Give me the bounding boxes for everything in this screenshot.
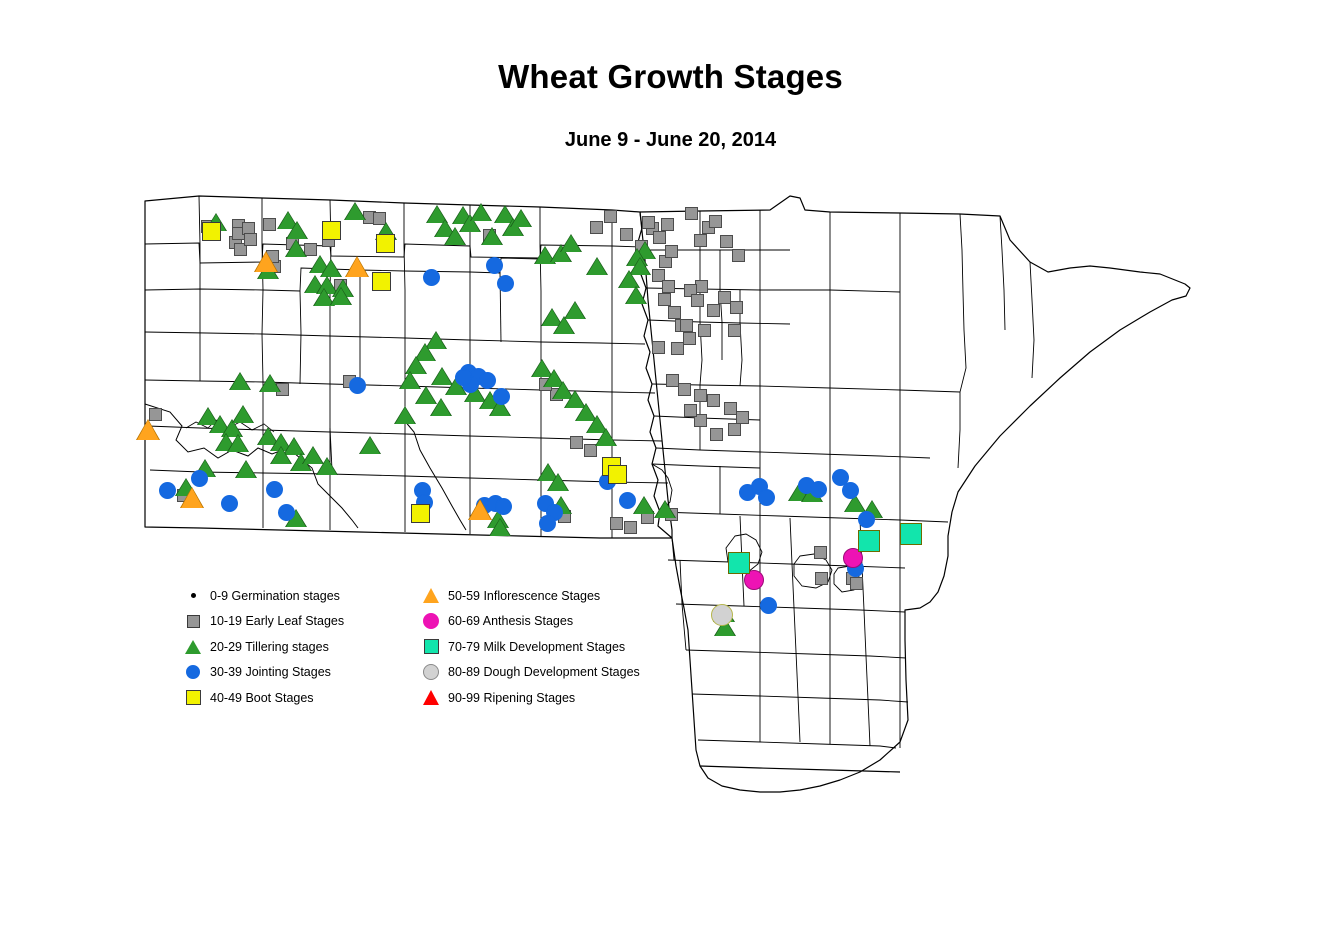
map-marker-early_leaf	[694, 389, 707, 402]
legend-item-label: 10-19 Early Leaf Stages	[210, 614, 344, 628]
map-marker-tillering	[345, 203, 365, 220]
map-marker-early_leaf	[624, 521, 637, 534]
map-marker-early_leaf	[709, 215, 722, 228]
map-marker-tillering	[490, 519, 510, 536]
map-marker-tillering	[482, 228, 502, 245]
map-marker-jointing	[486, 257, 503, 274]
map-marker-jointing	[497, 275, 514, 292]
map-marker-tillering	[565, 302, 585, 319]
map-marker-tillering	[587, 258, 607, 275]
map-marker-early_leaf	[691, 294, 704, 307]
map-marker-milk	[728, 552, 750, 574]
legend-item-label: 40-49 Boot Stages	[210, 691, 314, 705]
map-marker-early_leaf	[684, 404, 697, 417]
map-marker-early_leaf	[570, 436, 583, 449]
map-marker-jointing	[221, 495, 238, 512]
map-marker-jointing	[758, 489, 775, 506]
map-marker-early_leaf	[662, 280, 675, 293]
map-marker-jointing	[278, 504, 295, 521]
map-marker-jointing	[858, 511, 875, 528]
legend-item[interactable]: 40-49 Boot Stages	[178, 685, 344, 711]
map-marker-early_leaf	[620, 228, 633, 241]
legend-item[interactable]: 20-29 Tillering stages	[178, 634, 344, 660]
map-marker-tillering	[331, 288, 351, 305]
map-marker-tillering	[260, 375, 280, 392]
map-marker-jointing	[455, 369, 472, 386]
map-marker-tillering	[471, 204, 491, 221]
triangle-marker-red-icon	[416, 687, 446, 709]
map-marker-tillering	[228, 435, 248, 452]
map-marker-tillering	[548, 474, 568, 491]
map-marker-early_leaf	[707, 304, 720, 317]
map-marker-early_leaf	[680, 319, 693, 332]
map-marker-jointing	[760, 597, 777, 614]
map-marker-tillering	[236, 461, 256, 478]
dot-marker-black-icon	[178, 585, 208, 607]
legend-item[interactable]: 0-9 Germination stages	[178, 583, 344, 609]
map-marker-jointing	[191, 470, 208, 487]
map-marker-early_leaf	[732, 249, 745, 262]
wheat-growth-stages-map-page: Wheat Growth Stages June 9 - June 20, 20…	[0, 0, 1341, 926]
map-marker-inflorescence	[137, 420, 159, 440]
map-marker-jointing	[619, 492, 636, 509]
map-marker-early_leaf	[590, 221, 603, 234]
map-marker-tillering	[561, 235, 581, 252]
map-marker-tillering	[230, 373, 250, 390]
map-marker-tillering	[626, 287, 646, 304]
map-marker-inflorescence	[346, 257, 368, 277]
map-marker-early_leaf	[244, 233, 257, 246]
map-marker-tillering	[360, 437, 380, 454]
map-marker-jointing	[842, 482, 859, 499]
map-marker-tillering	[395, 407, 415, 424]
map-marker-milk	[858, 530, 880, 552]
map-marker-inflorescence	[469, 500, 491, 520]
map-marker-jointing	[266, 481, 283, 498]
map-marker-early_leaf	[658, 293, 671, 306]
legend-item[interactable]: 60-69 Anthesis Stages	[416, 609, 640, 635]
circle-marker-magenta-icon	[416, 610, 446, 632]
map-marker-boot	[202, 222, 221, 241]
map-marker-jointing	[495, 498, 512, 515]
map-marker-early_leaf	[694, 234, 707, 247]
map-marker-early_leaf	[604, 210, 617, 223]
map-marker-early_leaf	[652, 341, 665, 354]
map-marker-boot	[376, 234, 395, 253]
legend-item[interactable]: 50-59 Inflorescence Stages	[416, 583, 640, 609]
map-marker-early_leaf	[678, 383, 691, 396]
map-marker-jointing	[493, 388, 510, 405]
legend-item[interactable]: 90-99 Ripening Stages	[416, 685, 640, 711]
map-marker-early_leaf	[665, 245, 678, 258]
square-marker-teal-icon	[416, 636, 446, 658]
map-marker-early_leaf	[683, 332, 696, 345]
map-marker-early_leaf	[815, 572, 828, 585]
map-marker-early_leaf	[710, 428, 723, 441]
legend-item-label: 90-99 Ripening Stages	[448, 691, 575, 705]
map-marker-tillering	[431, 399, 451, 416]
legend-column-right: 50-59 Inflorescence Stages 60-69 Anthesi…	[416, 583, 640, 711]
legend-item-label: 50-59 Inflorescence Stages	[448, 589, 600, 603]
map-marker-early_leaf	[668, 306, 681, 319]
map-marker-tillering	[596, 429, 616, 446]
map-marker-jointing	[479, 372, 496, 389]
square-marker-yellow-icon	[178, 687, 208, 709]
map-marker-early_leaf	[263, 218, 276, 231]
legend-item-label: 0-9 Germination stages	[210, 589, 340, 603]
circle-marker-lightgray-icon	[416, 661, 446, 683]
map-marker-early_leaf	[730, 301, 743, 314]
legend-item[interactable]: 10-19 Early Leaf Stages	[178, 609, 344, 635]
legend: 0-9 Germination stages 10-19 Early Leaf …	[178, 583, 648, 711]
map-marker-tillering	[233, 406, 253, 423]
map-marker-tillering	[286, 240, 306, 257]
map-marker-tillering	[655, 501, 675, 518]
square-marker-gray-icon	[178, 610, 208, 632]
legend-item-label: 60-69 Anthesis Stages	[448, 614, 573, 628]
circle-marker-blue-icon	[178, 661, 208, 683]
map-canvas[interactable]	[0, 0, 1341, 926]
triangle-marker-orange-icon	[416, 585, 446, 607]
legend-column-left: 0-9 Germination stages 10-19 Early Leaf …	[178, 583, 344, 711]
map-marker-tillering	[317, 458, 337, 475]
legend-item[interactable]: 30-39 Jointing Stages	[178, 660, 344, 686]
map-marker-tillering	[287, 222, 307, 239]
legend-item[interactable]: 70-79 Milk Development Stages	[416, 634, 640, 660]
map-marker-jointing	[810, 481, 827, 498]
map-marker-early_leaf	[850, 577, 863, 590]
map-marker-jointing	[349, 377, 366, 394]
map-marker-early_leaf	[685, 207, 698, 220]
map-marker-jointing	[423, 269, 440, 286]
map-marker-inflorescence	[181, 488, 203, 508]
map-marker-early_leaf	[661, 218, 674, 231]
map-marker-tillering	[271, 447, 291, 464]
map-marker-early_leaf	[728, 324, 741, 337]
triangle-marker-green-icon	[178, 636, 208, 658]
map-marker-boot	[608, 465, 627, 484]
map-marker-early_leaf	[610, 517, 623, 530]
map-marker-milk	[900, 523, 922, 545]
map-marker-early_leaf	[814, 546, 827, 559]
map-marker-early_leaf	[707, 394, 720, 407]
map-marker-early_leaf	[720, 235, 733, 248]
map-marker-tillering	[511, 210, 531, 227]
legend-item-label: 70-79 Milk Development Stages	[448, 640, 625, 654]
map-marker-boot	[322, 221, 341, 240]
map-marker-early_leaf	[728, 423, 741, 436]
legend-item-label: 30-39 Jointing Stages	[210, 665, 331, 679]
legend-item-label: 80-89 Dough Development Stages	[448, 665, 640, 679]
map-marker-boot	[411, 504, 430, 523]
map-marker-early_leaf	[671, 342, 684, 355]
map-marker-tillering	[554, 317, 574, 334]
legend-item-label: 20-29 Tillering stages	[210, 640, 329, 654]
legend-item[interactable]: 80-89 Dough Development Stages	[416, 660, 640, 686]
map-marker-boot	[372, 272, 391, 291]
map-marker-inflorescence	[255, 252, 277, 272]
map-marker-early_leaf	[642, 216, 655, 229]
map-marker-jointing	[539, 515, 556, 532]
map-marker-tillering	[634, 497, 654, 514]
map-marker-dough	[711, 604, 733, 626]
map-marker-jointing	[159, 482, 176, 499]
map-marker-early_leaf	[698, 324, 711, 337]
